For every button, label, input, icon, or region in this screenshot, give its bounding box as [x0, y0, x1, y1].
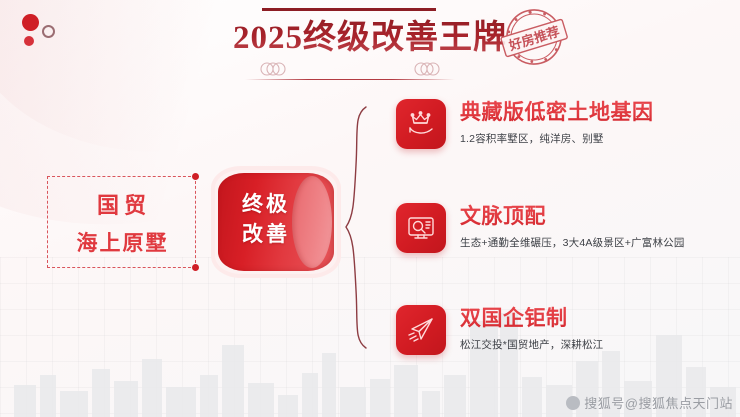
slide-canvas: 2025终级改善王牌 好房推荐 国贸 海上原墅: [0, 0, 740, 417]
feature-title-3: 双国企钜制: [460, 306, 603, 332]
monitor-search-icon: [396, 203, 446, 253]
hand-holding-crown-icon: [396, 99, 446, 149]
corner-dot-bottom-right: [192, 264, 199, 271]
feature-text-2: 文脉顶配 生态+通勤全维碾压，3大4A级景区+广富林公园: [460, 203, 685, 250]
feature-item-1[interactable]: 典藏版低密土地基因 1.2容积率墅区，纯洋房、别墅: [396, 99, 654, 149]
cylinder-label-line1: 终极: [227, 190, 305, 220]
feature-subtitle-1: 1.2容积率墅区，纯洋房、别墅: [460, 132, 654, 146]
recommended-stamp-icon: 好房推荐: [494, 1, 575, 73]
ring-ornament-right-icon: [414, 62, 440, 76]
brace-connector: [344, 105, 370, 350]
project-name-line1: 国贸: [92, 188, 151, 220]
central-cylinder-node: 终极 改善: [211, 166, 341, 278]
watermark: 搜狐号@搜狐焦点天门站: [566, 393, 733, 412]
corner-dot-top-right: [192, 173, 199, 180]
feature-subtitle-2: 生态+通勤全维碾压，3大4A级景区+广富林公园: [460, 236, 685, 250]
project-name-box: 国贸 海上原墅: [47, 176, 196, 268]
feature-text-3: 双国企钜制 松江交投*国贸地产，深耕松江: [460, 305, 603, 352]
feature-item-3[interactable]: 双国企钜制 松江交投*国贸地产，深耕松江: [396, 305, 603, 355]
feature-item-2[interactable]: 文脉顶配 生态+通勤全维碾压，3大4A级景区+广富林公园: [396, 203, 685, 253]
paper-plane-icon: [396, 305, 446, 355]
cylinder-label-line2: 改善: [227, 220, 305, 250]
feature-text-1: 典藏版低密土地基因 1.2容积率墅区，纯洋房、别墅: [460, 99, 654, 146]
watermark-avatar-icon: [566, 396, 580, 410]
feature-title-2: 文脉顶配: [460, 204, 685, 230]
feature-title-1: 典藏版低密土地基因: [460, 100, 654, 126]
cylinder-label: 终极 改善: [227, 190, 305, 250]
title-underline: [245, 79, 455, 80]
watermark-text: 搜狐号@搜狐焦点天门站: [584, 393, 733, 412]
ring-ornament-left-icon: [260, 62, 286, 76]
project-name-line2: 海上原墅: [75, 227, 169, 257]
feature-subtitle-3: 松江交投*国贸地产，深耕松江: [460, 338, 603, 352]
page-title: 2025终级改善王牌: [0, 10, 740, 58]
